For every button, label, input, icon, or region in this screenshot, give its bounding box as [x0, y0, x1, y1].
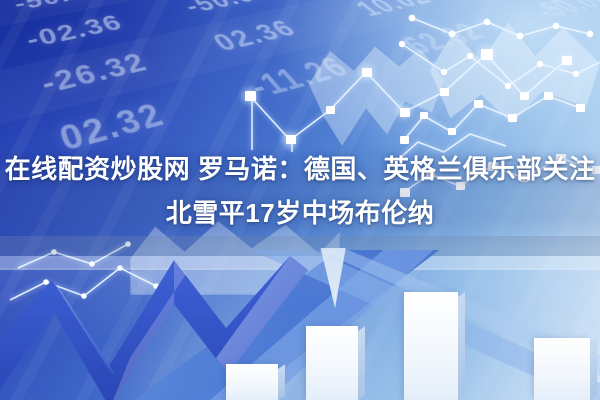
headline-line-2: 北雪平17岁中场布伦纳 [0, 192, 600, 234]
bar-column [534, 338, 590, 400]
bar-column [404, 292, 458, 400]
headline-line-1: 在线配资炒股网 罗马诺：德国、英格兰俱乐部关注 [0, 148, 600, 190]
news-banner-image: -02.32 -06.02 -02.36 -11.26 45.02 21.32 … [0, 0, 600, 400]
bar-column [226, 364, 278, 400]
bar-column [306, 326, 358, 400]
headline-text: 在线配资炒股网 罗马诺：德国、英格兰俱乐部关注 北雪平17岁中场布伦纳 [0, 148, 600, 234]
